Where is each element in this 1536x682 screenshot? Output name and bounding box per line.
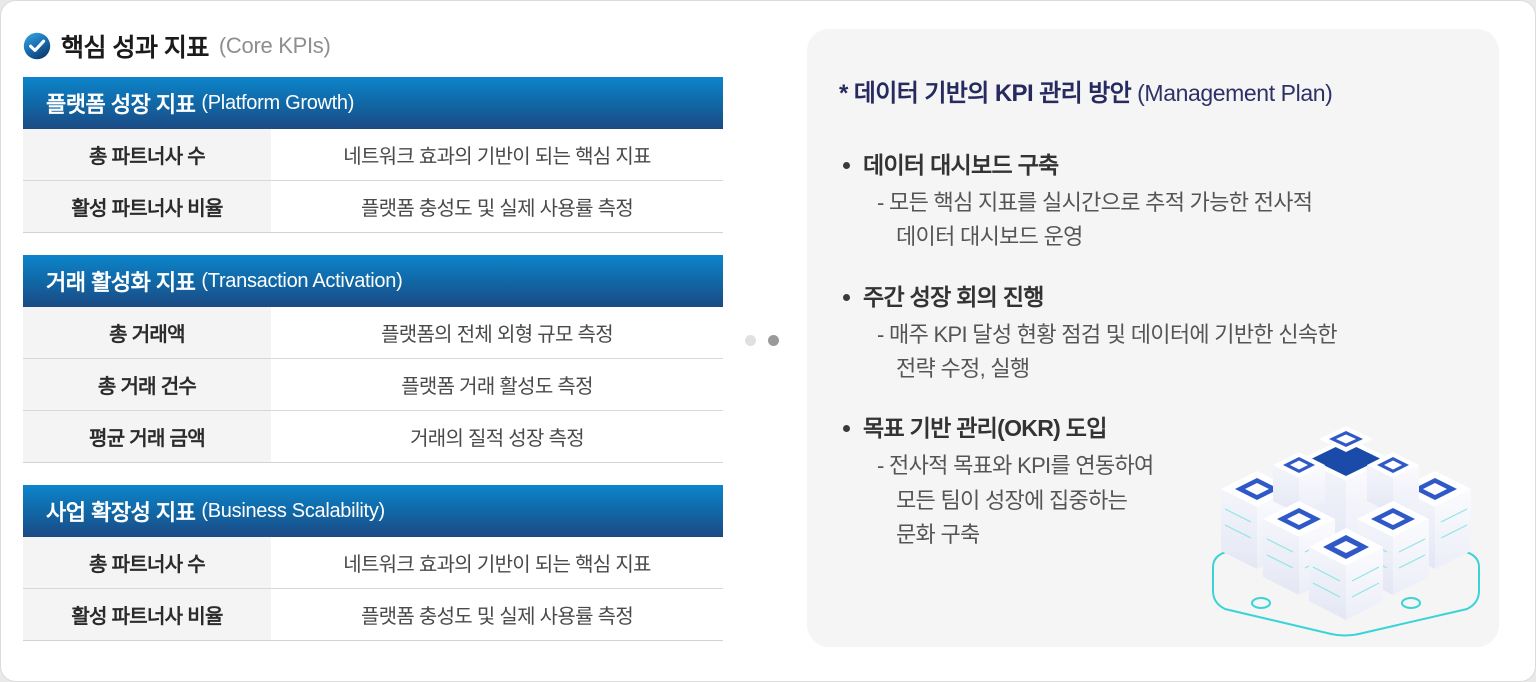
list-item-detail: - 전사적 목표와 KPI를 연동하여 모든 팀이 성장에 집중하는 문화 구축 bbox=[877, 449, 1483, 551]
kpi-block-header-en: (Transaction Activation) bbox=[201, 270, 402, 293]
detail-line: 모든 팀이 성장에 집중하는 bbox=[877, 484, 1483, 518]
check-circle-icon bbox=[23, 32, 51, 60]
management-plan-list: 데이터 대시보드 구축 - 모든 핵심 지표를 실시간으로 추적 가능한 전사적… bbox=[843, 149, 1483, 578]
kpi-block-header-ko: 플랫폼 성장 지표 bbox=[46, 87, 195, 119]
list-item: 목표 기반 관리(OKR) 도입 - 전사적 목표와 KPI를 연동하여 모든 … bbox=[843, 412, 1483, 552]
list-item: 주간 성장 회의 진행 - 매주 KPI 달성 현황 점검 및 데이터에 기반한… bbox=[843, 281, 1483, 387]
kpi-metric-desc: 플랫폼의 전체 외형 규모 측정 bbox=[271, 307, 723, 358]
kpi-metric-label: 활성 파트너사 비율 bbox=[23, 181, 271, 232]
list-item: 데이터 대시보드 구축 - 모든 핵심 지표를 실시간으로 추적 가능한 전사적… bbox=[843, 149, 1483, 255]
divider-dot-dark-icon bbox=[768, 335, 779, 346]
list-item-title: 주간 성장 회의 진행 bbox=[863, 281, 1044, 314]
list-item-detail: - 모든 핵심 지표를 실시간으로 추적 가능한 전사적 데이터 대시보드 운영 bbox=[877, 186, 1483, 254]
core-kpi-heading: 핵심 성과 지표 (Core KPIs) bbox=[23, 29, 723, 63]
kpi-metric-label: 총 거래액 bbox=[23, 307, 271, 358]
list-item-title: 목표 기반 관리(OKR) 도입 bbox=[863, 412, 1107, 445]
core-kpi-title-en: (Core KPIs) bbox=[219, 33, 331, 59]
kpi-block-business-scalability: 사업 확장성 지표 (Business Scalability) 총 파트너사 … bbox=[23, 485, 723, 641]
kpi-metric-desc: 거래의 질적 성장 측정 bbox=[271, 411, 723, 462]
table-row: 활성 파트너사 비율 플랫폼 충성도 및 실제 사용률 측정 bbox=[23, 589, 723, 641]
detail-line: 데이터 대시보드 운영 bbox=[877, 220, 1483, 254]
detail-line: 문화 구축 bbox=[877, 518, 1483, 552]
divider-dot-light-icon bbox=[745, 335, 756, 346]
list-item-header: 데이터 대시보드 구축 bbox=[843, 149, 1483, 182]
kpi-metric-desc: 네트워크 효과의 기반이 되는 핵심 지표 bbox=[271, 129, 723, 180]
table-row: 평균 거래 금액 거래의 질적 성장 측정 bbox=[23, 411, 723, 463]
management-plan-title-ko: * 데이터 기반의 KPI 관리 방안 bbox=[839, 80, 1131, 107]
list-item-header: 목표 기반 관리(OKR) 도입 bbox=[843, 412, 1483, 445]
slide-root: 핵심 성과 지표 (Core KPIs) 플랫폼 성장 지표 (Platform… bbox=[0, 0, 1536, 682]
list-item-detail: - 매주 KPI 달성 현황 점검 및 데이터에 기반한 신속한 전략 수정, … bbox=[877, 318, 1483, 386]
bullet-dot-icon bbox=[843, 162, 850, 169]
kpi-block-platform-growth: 플랫폼 성장 지표 (Platform Growth) 총 파트너사 수 네트워… bbox=[23, 77, 723, 233]
kpi-metric-desc: 플랫폼 충성도 및 실제 사용률 측정 bbox=[271, 181, 723, 232]
kpi-block-header-ko: 사업 확장성 지표 bbox=[46, 495, 195, 527]
kpi-metric-desc: 플랫폼 거래 활성도 측정 bbox=[271, 359, 723, 410]
kpi-block-transaction-activation: 거래 활성화 지표 (Transaction Activation) 총 거래액… bbox=[23, 255, 723, 463]
kpi-metric-label: 활성 파트너사 비율 bbox=[23, 589, 271, 640]
core-kpi-section: 핵심 성과 지표 (Core KPIs) 플랫폼 성장 지표 (Platform… bbox=[23, 29, 723, 663]
kpi-metric-desc: 플랫폼 충성도 및 실제 사용률 측정 bbox=[271, 589, 723, 640]
divider-dots bbox=[745, 335, 779, 346]
table-row: 활성 파트너사 비율 플랫폼 충성도 및 실제 사용률 측정 bbox=[23, 181, 723, 233]
detail-line: - 매주 KPI 달성 현황 점검 및 데이터에 기반한 신속한 bbox=[877, 318, 1483, 352]
detail-line: 전략 수정, 실행 bbox=[877, 352, 1483, 386]
kpi-metric-label: 총 파트너사 수 bbox=[23, 537, 271, 588]
table-row: 총 파트너사 수 네트워크 효과의 기반이 되는 핵심 지표 bbox=[23, 537, 723, 589]
management-plan-panel: * 데이터 기반의 KPI 관리 방안 (Management Plan) 데이… bbox=[807, 29, 1499, 647]
kpi-block-header: 거래 활성화 지표 (Transaction Activation) bbox=[23, 255, 723, 307]
management-plan-title-en: (Management Plan) bbox=[1137, 80, 1332, 106]
kpi-metric-desc: 네트워크 효과의 기반이 되는 핵심 지표 bbox=[271, 537, 723, 588]
core-kpi-title-ko: 핵심 성과 지표 bbox=[61, 28, 209, 64]
detail-line: - 모든 핵심 지표를 실시간으로 추적 가능한 전사적 bbox=[877, 186, 1483, 220]
table-row: 총 거래 건수 플랫폼 거래 활성도 측정 bbox=[23, 359, 723, 411]
kpi-metric-label: 총 거래 건수 bbox=[23, 359, 271, 410]
table-row: 총 거래액 플랫폼의 전체 외형 규모 측정 bbox=[23, 307, 723, 359]
detail-line: - 전사적 목표와 KPI를 연동하여 bbox=[877, 449, 1483, 483]
bullet-dot-icon bbox=[843, 294, 850, 301]
table-row: 총 파트너사 수 네트워크 효과의 기반이 되는 핵심 지표 bbox=[23, 129, 723, 181]
kpi-metric-label: 평균 거래 금액 bbox=[23, 411, 271, 462]
kpi-block-header-en: (Business Scalability) bbox=[201, 500, 384, 523]
kpi-block-header-ko: 거래 활성화 지표 bbox=[46, 265, 195, 297]
management-plan-title: * 데이터 기반의 KPI 관리 방안 (Management Plan) bbox=[839, 73, 1332, 108]
kpi-block-header: 사업 확장성 지표 (Business Scalability) bbox=[23, 485, 723, 537]
kpi-block-header-en: (Platform Growth) bbox=[201, 92, 354, 115]
list-item-header: 주간 성장 회의 진행 bbox=[843, 281, 1483, 314]
bullet-dot-icon bbox=[843, 425, 850, 432]
kpi-block-header: 플랫폼 성장 지표 (Platform Growth) bbox=[23, 77, 723, 129]
list-item-title: 데이터 대시보드 구축 bbox=[863, 149, 1059, 182]
kpi-metric-label: 총 파트너사 수 bbox=[23, 129, 271, 180]
